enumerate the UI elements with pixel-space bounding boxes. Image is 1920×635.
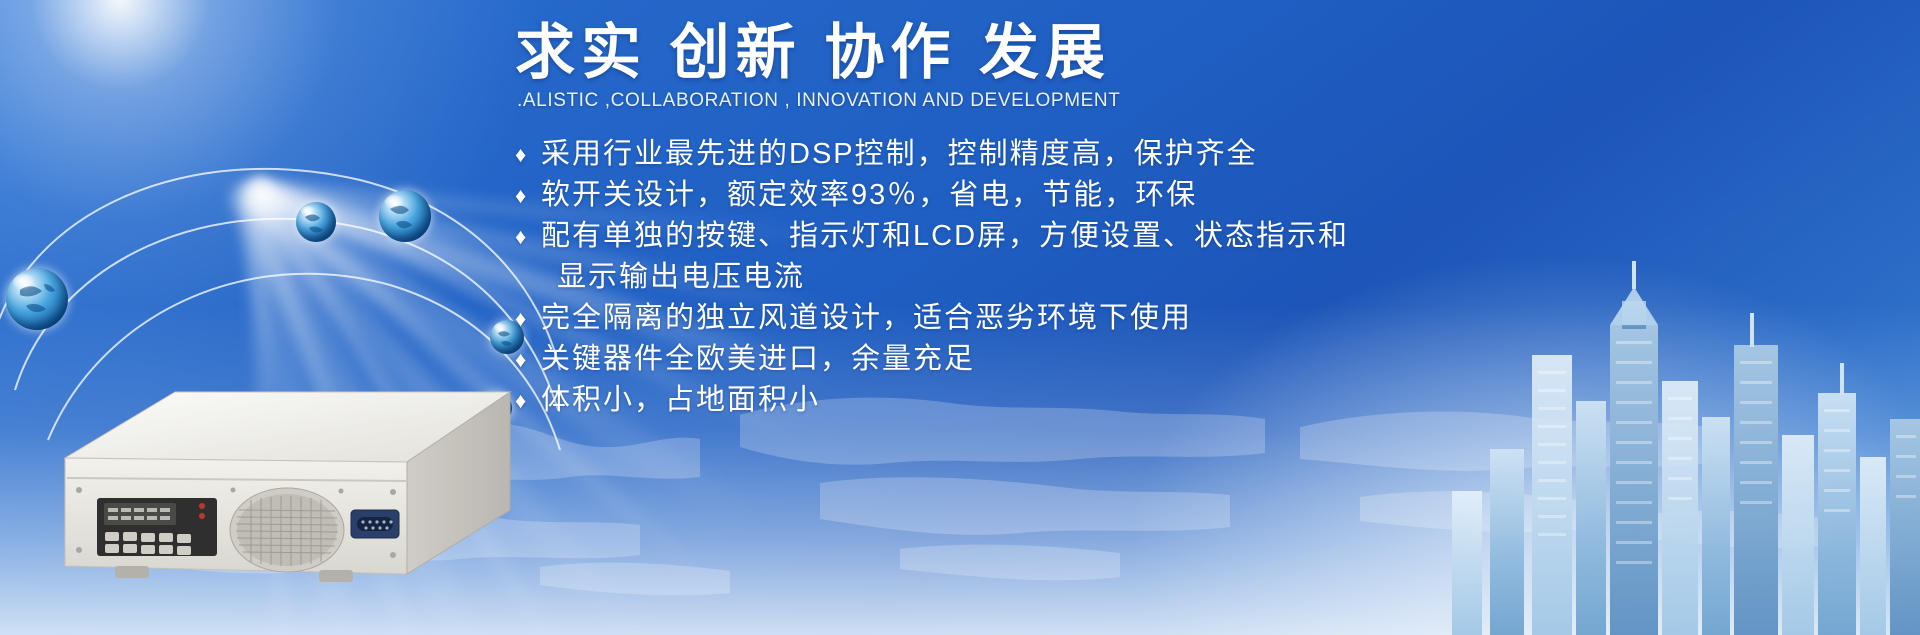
feature-text: 显示输出电压电流 bbox=[541, 257, 805, 298]
globe-icon bbox=[6, 268, 68, 330]
list-item-continuation: ♦ 显示输出电压电流 bbox=[515, 257, 1895, 298]
feature-text: 采用行业最先进的DSP控制，控制精度高，保护齐全 bbox=[541, 134, 1258, 175]
diamond-bullet-icon: ♦ bbox=[515, 298, 541, 339]
promo-banner: 求实 创新 协作 发展 .ALISTIC ,COLLABORATION , IN… bbox=[0, 0, 1920, 635]
list-item: ♦ 采用行业最先进的DSP控制，控制精度高，保护齐全 bbox=[515, 134, 1895, 175]
list-item: ♦ 体积小，占地面积小 bbox=[515, 380, 1895, 421]
feature-text: 完全隔离的独立风道设计，适合恶劣环境下使用 bbox=[541, 298, 1192, 339]
feature-list: ♦ 采用行业最先进的DSP控制，控制精度高，保护齐全 ♦ 软开关设计，额定效率9… bbox=[515, 134, 1895, 421]
banner-text-column: 求实 创新 协作 发展 .ALISTIC ,COLLABORATION , IN… bbox=[515, 18, 1895, 421]
feature-text: 体积小，占地面积小 bbox=[541, 380, 820, 421]
list-item: ♦ 软开关设计，额定效率93％，省电，节能，环保 bbox=[515, 175, 1895, 216]
rackmount-power-supply bbox=[55, 350, 515, 610]
feature-text: 关键器件全欧美进口，余量充足 bbox=[541, 339, 975, 380]
diamond-bullet-icon: ♦ bbox=[515, 380, 541, 421]
list-item: ♦ 完全隔离的独立风道设计，适合恶劣环境下使用 bbox=[515, 298, 1895, 339]
diamond-bullet-icon: ♦ bbox=[515, 175, 541, 216]
feature-text: 软开关设计，额定效率93％，省电，节能，环保 bbox=[541, 175, 1197, 216]
globe-icon bbox=[379, 190, 431, 242]
feature-text: 配有单独的按键、指示灯和LCD屏，方便设置、状态指示和 bbox=[541, 216, 1349, 257]
page-subtitle: .ALISTIC ,COLLABORATION , INNOVATION AND… bbox=[517, 90, 1895, 112]
list-item: ♦ 关键器件全欧美进口，余量充足 bbox=[515, 339, 1895, 380]
diamond-bullet-icon: ♦ bbox=[515, 134, 541, 175]
page-title: 求实 创新 协作 发展 bbox=[515, 18, 1895, 88]
globe-icon bbox=[296, 202, 336, 242]
diamond-bullet-icon: ♦ bbox=[515, 216, 541, 257]
diamond-bullet-icon: ♦ bbox=[515, 339, 541, 380]
list-item: ♦ 配有单独的按键、指示灯和LCD屏，方便设置、状态指示和 bbox=[515, 216, 1895, 257]
